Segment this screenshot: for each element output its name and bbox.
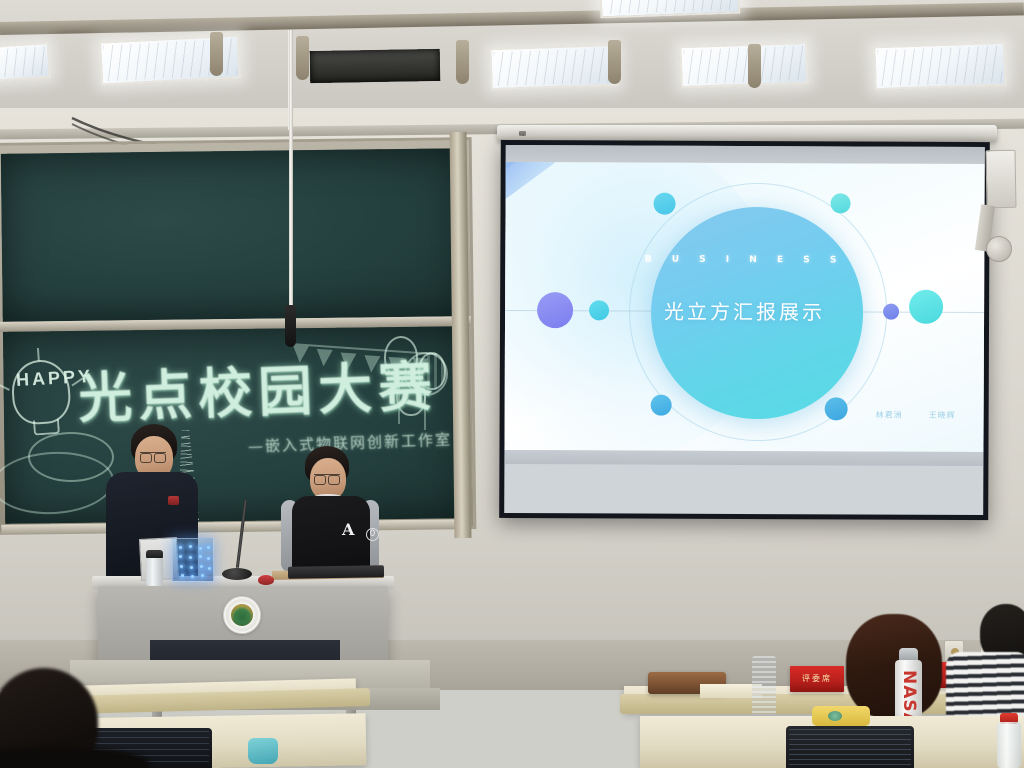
pencil-case-badge: [828, 711, 842, 721]
led-dot: [207, 546, 210, 549]
audience-laptop-screen: [789, 729, 911, 765]
lamp-grid: [493, 48, 614, 86]
presenter-right-letter-patch: A: [342, 520, 354, 539]
teal-object: [248, 738, 278, 764]
fan-hook-4: [608, 40, 621, 84]
air-vent: [310, 49, 441, 83]
ceiling-lamp-4: [679, 42, 808, 88]
ceiling-lamp-3: [489, 44, 618, 90]
podium-microphone-base: [222, 568, 252, 580]
fan-hook-3: [456, 40, 469, 84]
audience-laptop-right[interactable]: [786, 726, 914, 768]
podium-bottle-cap: [146, 550, 163, 558]
screen-bottom-band: [504, 450, 983, 466]
hanging-microphone: [285, 305, 296, 347]
ceiling-lamp-1: [0, 42, 51, 82]
lamp-grid: [0, 46, 47, 78]
presenter-right-number-patch: 0: [366, 528, 379, 541]
led-dot: [190, 566, 193, 569]
led-dot: [180, 565, 183, 568]
led-dot: [179, 555, 182, 558]
lamp-grid: [683, 46, 804, 84]
classroom-scene: HAPPY 光点校园大赛 —嵌入式物联网创新工作室 s.g: [0, 0, 1024, 768]
slide-presenter-name-2: 王晓辉: [929, 410, 956, 421]
fan-hook-1: [210, 32, 223, 76]
presenter-left-logo: [168, 496, 179, 505]
lamp-grid: [604, 0, 737, 14]
ceiling-lamp-5: [873, 42, 1006, 91]
podium-water-bottle: [146, 556, 163, 586]
led-dot: [191, 575, 194, 578]
slide-presenter-name-1: 林君洲: [876, 410, 903, 421]
led-dot: [181, 574, 184, 577]
screen-top-band: [506, 145, 985, 164]
audience-hair: [846, 614, 942, 718]
housing-label: s.g: [519, 131, 526, 136]
ceiling: [0, 0, 1024, 118]
clear-water-bottle: [997, 722, 1021, 768]
hanging-mic-pole: [289, 30, 293, 315]
nasa-label: NASA: [899, 670, 919, 722]
slide-dot-top-left: [654, 193, 676, 215]
led-dot: [189, 556, 192, 559]
slide-dot-top-right: [831, 193, 851, 213]
slide-title: 光立方汇报展示: [505, 295, 984, 326]
presentation-slide: B U S I N E S S 光立方汇报展示 林君洲 王晓辉: [504, 162, 984, 452]
judge-placard-1: 评委席: [790, 666, 844, 692]
slide-dot-bottom-right: [825, 397, 848, 420]
fan-hook-5: [748, 44, 761, 88]
led-dot: [179, 546, 182, 549]
crest-inner: [231, 604, 253, 626]
wall-speaker: [985, 150, 1016, 209]
ceiling-beam: [0, 2, 1024, 35]
led-dot: [207, 557, 210, 560]
university-crest-icon: [223, 596, 261, 634]
led-dot: [199, 547, 202, 550]
projector-screen: B U S I N E S S 光立方汇报展示 林君洲 王晓辉: [499, 140, 990, 520]
led-dot: [201, 574, 204, 577]
speaker-driver: [986, 236, 1012, 262]
blackboard-upper-panel: [1, 148, 465, 322]
led-cube-project: [172, 538, 214, 582]
led-dot: [200, 565, 203, 568]
presenter-left-glasses: [140, 452, 166, 460]
led-dot: [208, 567, 211, 570]
slide-eyebrow-text: B U S I N E S S: [505, 254, 984, 266]
lamp-grid: [877, 46, 1002, 86]
podium-mouse: [258, 575, 274, 585]
led-dot: [189, 545, 192, 548]
cloud-drawing-2: [28, 432, 114, 482]
slide-presenter-names: 林君洲 王晓辉: [876, 410, 956, 421]
blackboard-main-text: 光点校园大赛: [77, 342, 440, 434]
presenter-right-glasses: [314, 474, 340, 482]
fan-hook-2: [296, 36, 309, 80]
led-dot: [199, 555, 202, 558]
slide-dot-bottom-left: [651, 395, 672, 416]
podium-keyboard: [288, 565, 384, 579]
